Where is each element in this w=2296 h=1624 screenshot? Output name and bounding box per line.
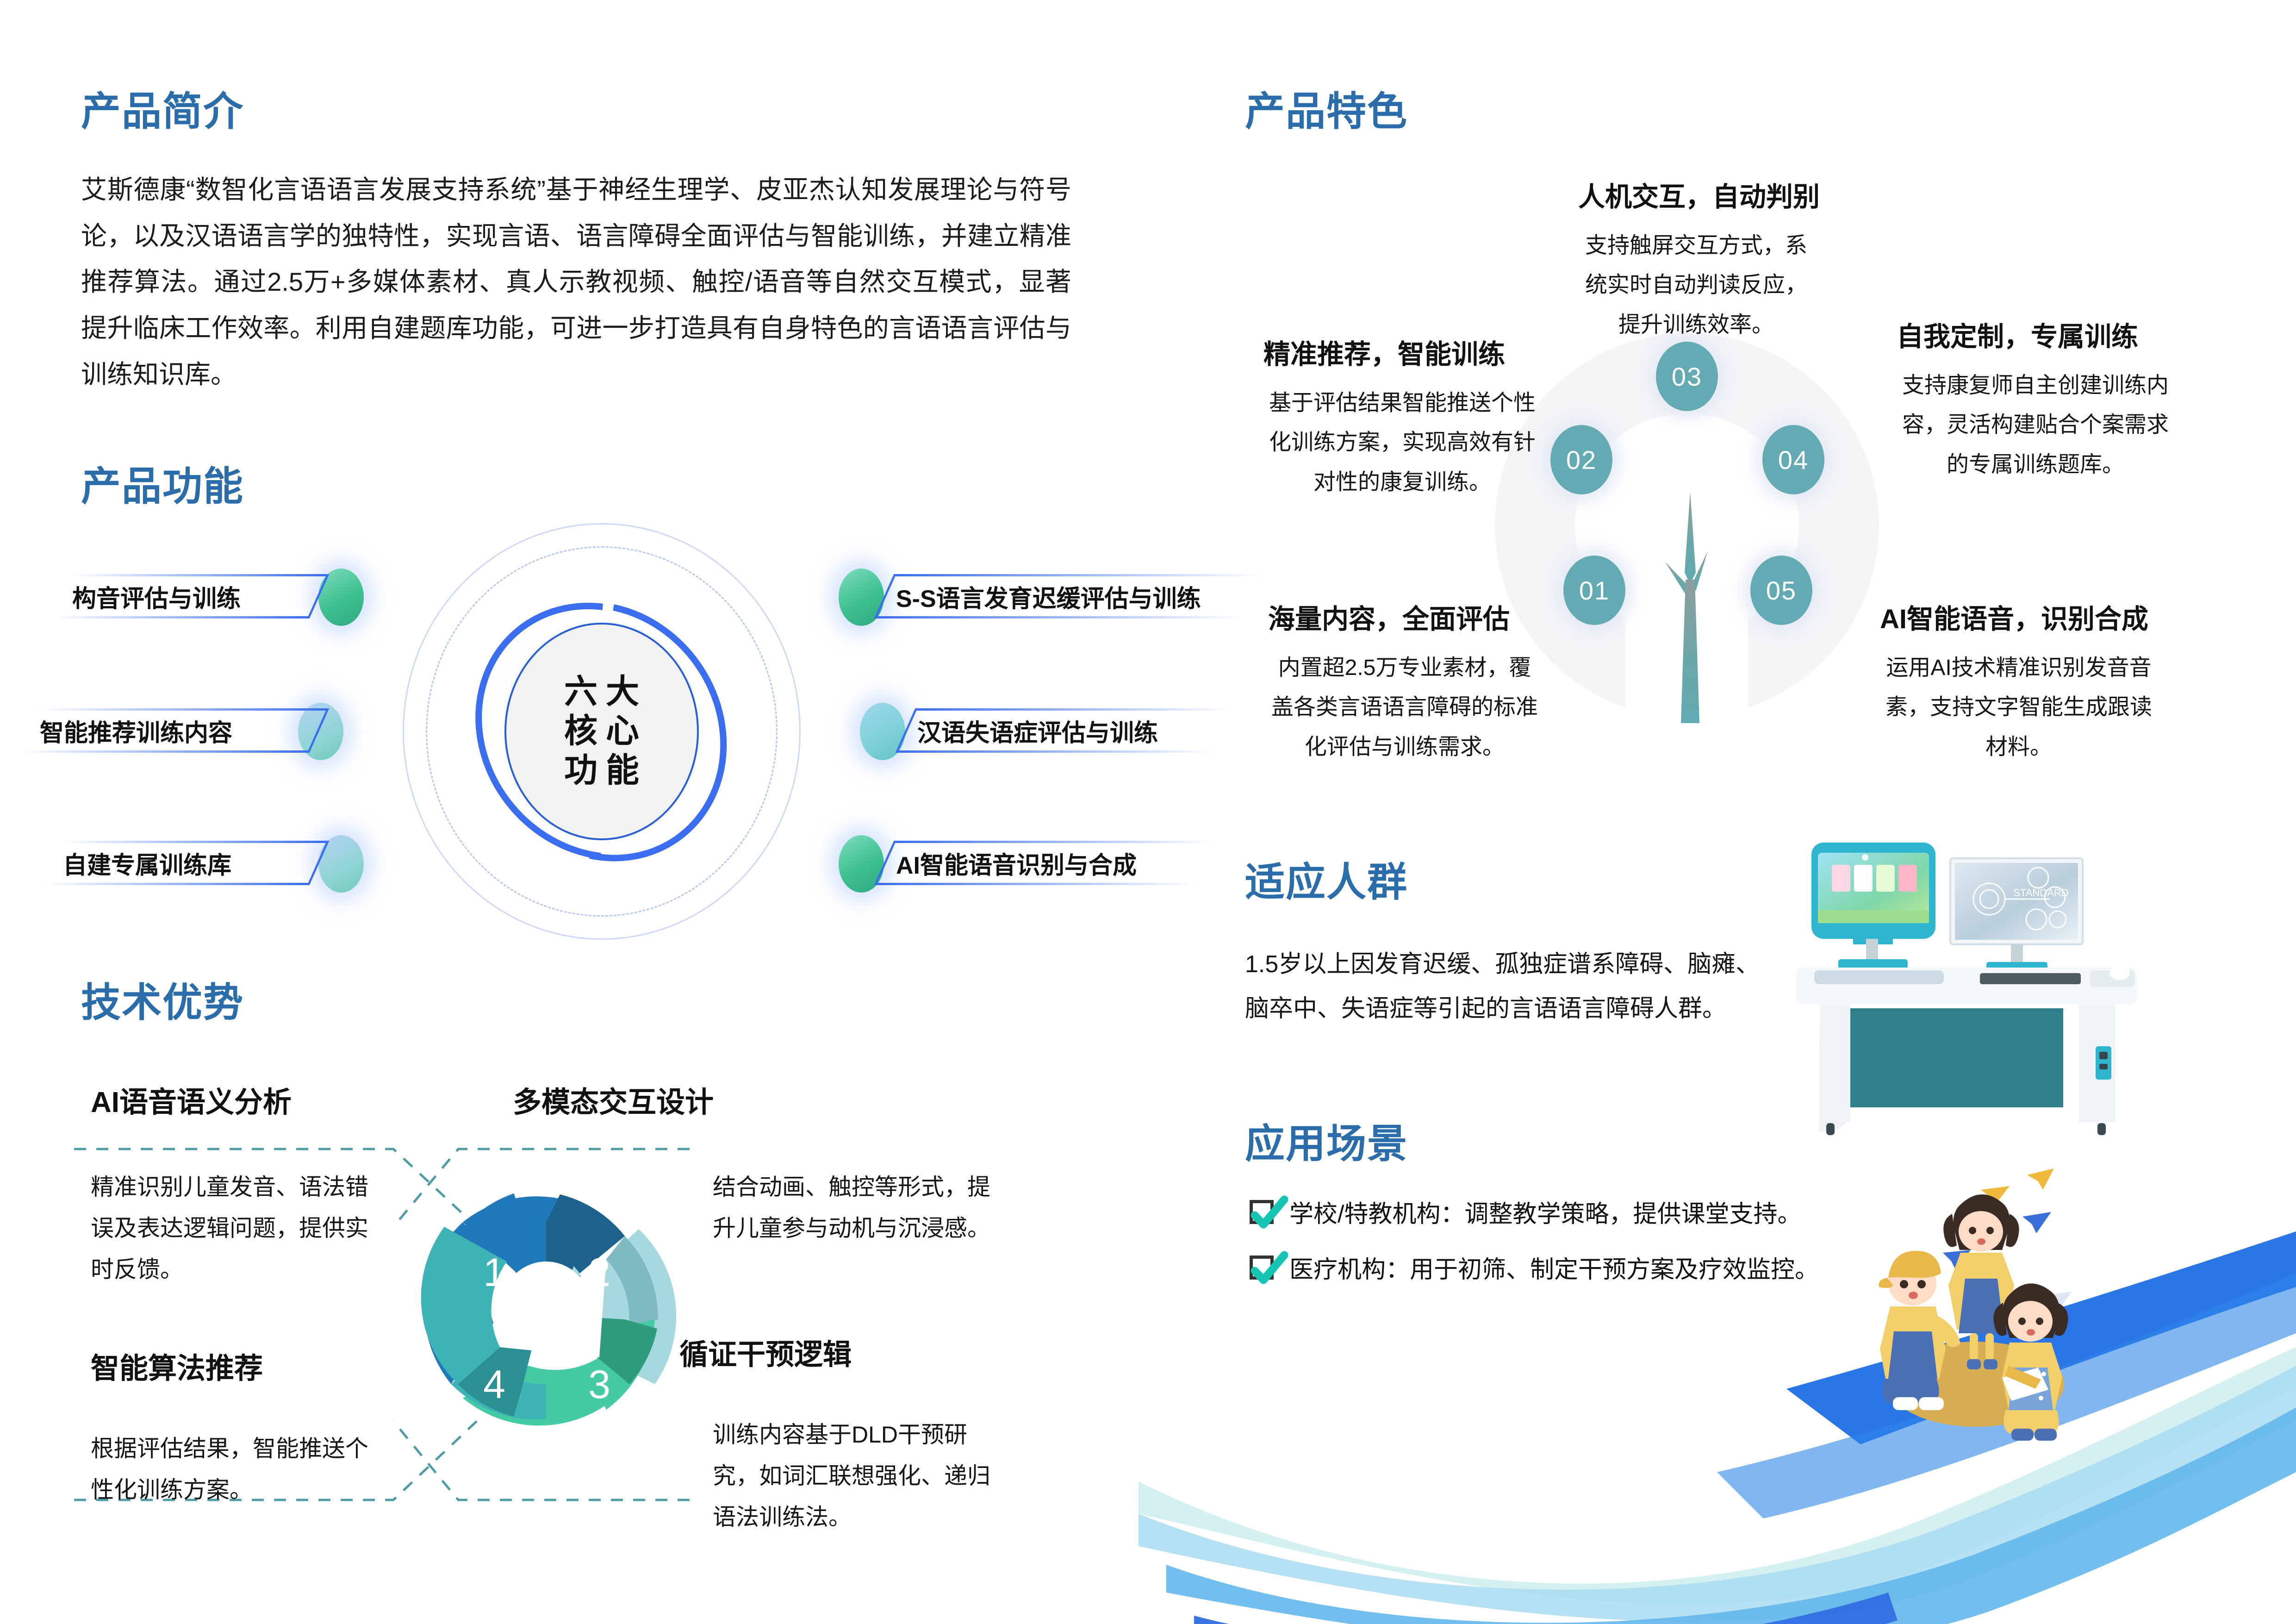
function-label-1-text: 构音评估与训练 xyxy=(60,579,253,614)
feature-desc-05: 运用AI技术精准识别发音音素，支持文字智能生成跟读材料。 xyxy=(1880,648,2158,767)
feature-number-02[interactable]: 02 xyxy=(1550,425,1612,494)
feature-number-03[interactable]: 03 xyxy=(1656,342,1718,411)
tech-desc-3: 训练内容基于DLD干预研究，如词汇联想强化、递归语法训练法。 xyxy=(713,1414,1009,1538)
heading-tech-advantage: 技术优势 xyxy=(81,970,244,1028)
tech-title-1: AI语音语义分析 xyxy=(91,1079,292,1120)
tech-title-4: 智能算法推荐 xyxy=(91,1345,263,1387)
feature-title-02: 精准推荐，智能训练 xyxy=(1263,332,1505,371)
center-label: 六 大 核 心 功 能 xyxy=(564,673,639,791)
pinwheel-number-3: 3 xyxy=(588,1362,610,1407)
feature-number-04[interactable]: 04 xyxy=(1762,425,1824,494)
pinwheel-number-4: 4 xyxy=(483,1362,505,1407)
audience-paragraph: 1.5岁以上因发育迟缓、孤独症谱系障碍、脑瘫、脑卒中、失语症等引起的言语语言障碍… xyxy=(1245,942,1773,1031)
heading-product-intro: 产品简介 xyxy=(81,79,244,137)
tech-pinwheel-graphic: 1 2 3 4 xyxy=(407,1167,685,1444)
feature-title-04: 自我定制，专属训练 xyxy=(1897,315,2138,354)
children-illustration xyxy=(1828,1162,2115,1449)
feature-number-05[interactable]: 05 xyxy=(1750,556,1812,625)
center-char-3: 核 xyxy=(564,712,597,751)
feature-desc-02: 基于评估结果智能推送个性化训练方案，实现高效有针对性的康复训练。 xyxy=(1263,383,1541,502)
tech-desc-2: 结合动画、触控等形式，提升儿童参与动机与沉浸感。 xyxy=(713,1167,1009,1249)
function-label-6-text: AI智能语音识别与合成 xyxy=(884,846,1149,881)
heading-product-features: 产品特色 xyxy=(1245,79,1408,137)
function-label-4-text: S-S语言发育迟缓评估与训练 xyxy=(884,579,1213,614)
device-illustration: STANDARD xyxy=(1796,829,2138,1139)
center-char-2: 大 xyxy=(606,673,639,712)
function-label-1[interactable]: 构音评估与训练 xyxy=(60,574,319,618)
device-screen-label: STANDARD xyxy=(2013,887,2068,899)
features-ring-graphic: 03 02 04 01 05 xyxy=(1495,333,1893,722)
center-char-5: 功 xyxy=(564,751,597,790)
tech-title-3: 循证干预逻辑 xyxy=(679,1331,852,1373)
function-label-2[interactable]: 智能推荐训练内容 xyxy=(28,708,319,753)
center-char-1: 六 xyxy=(564,673,597,712)
pinwheel-number-1: 1 xyxy=(483,1250,505,1295)
function-label-5-text: 汉语失语症评估与训练 xyxy=(905,713,1170,748)
tech-title-2: 多模态交互设计 xyxy=(513,1079,714,1120)
function-label-3[interactable]: 自建专属训练库 xyxy=(51,841,319,885)
function-label-6[interactable]: AI智能语音识别与合成 xyxy=(884,841,1208,885)
function-label-3-text: 自建专属训练库 xyxy=(51,846,243,881)
feature-title-05: AI智能语音，识别合成 xyxy=(1880,597,2148,636)
brochure-page: 产品简介 艾斯德康“数智化言语语言发展支持系统”基于神经生理学、皮亚杰认知发展理… xyxy=(0,0,2296,1624)
feature-title-03: 人机交互，自动判别 xyxy=(1578,175,1820,214)
tech-desc-1: 精准识别儿童发音、语法错误及表达逻辑问题，提供实时反馈。 xyxy=(91,1167,387,1290)
function-label-5[interactable]: 汉语失语症评估与训练 xyxy=(905,708,1225,753)
feature-desc-01: 内置超2.5万专业素材，覆盖各类言语语言障碍的标准化评估与训练需求。 xyxy=(1268,648,1541,767)
feature-title-01: 海量内容，全面评估 xyxy=(1268,597,1510,636)
function-label-2-text: 智能推荐训练内容 xyxy=(28,713,244,748)
feature-number-01[interactable]: 01 xyxy=(1563,556,1625,625)
wave-decoration xyxy=(1139,1148,2296,1624)
tech-desc-4: 根据评估结果，智能推送个性化训练方案。 xyxy=(91,1428,387,1511)
heading-audience: 适应人群 xyxy=(1245,849,1408,907)
center-char-4: 心 xyxy=(606,712,639,751)
feature-desc-03: 支持触屏交互方式，系统实时自动判读反应，提升训练效率。 xyxy=(1576,226,1817,344)
center-char-6: 能 xyxy=(606,751,639,790)
feature-desc-04: 支持康复师自主创建训练内容，灵活构建贴合个案需求的专属训练题库。 xyxy=(1897,366,2174,484)
six-core-functions-diagram: 六 大 核 心 功 能 构音评估与训练 智能推荐训练内容 自建专属训练库 xyxy=(259,528,944,935)
heading-product-functions: 产品功能 xyxy=(81,454,244,512)
tree-icon xyxy=(1662,492,1718,723)
function-label-4[interactable]: S-S语言发育迟缓评估与训练 xyxy=(884,574,1254,618)
pinwheel-number-2: 2 xyxy=(588,1250,610,1295)
product-intro-paragraph: 艾斯德康“数智化言语语言发展支持系统”基于神经生理学、皮亚杰认知发展理论与符号论… xyxy=(81,167,1071,397)
